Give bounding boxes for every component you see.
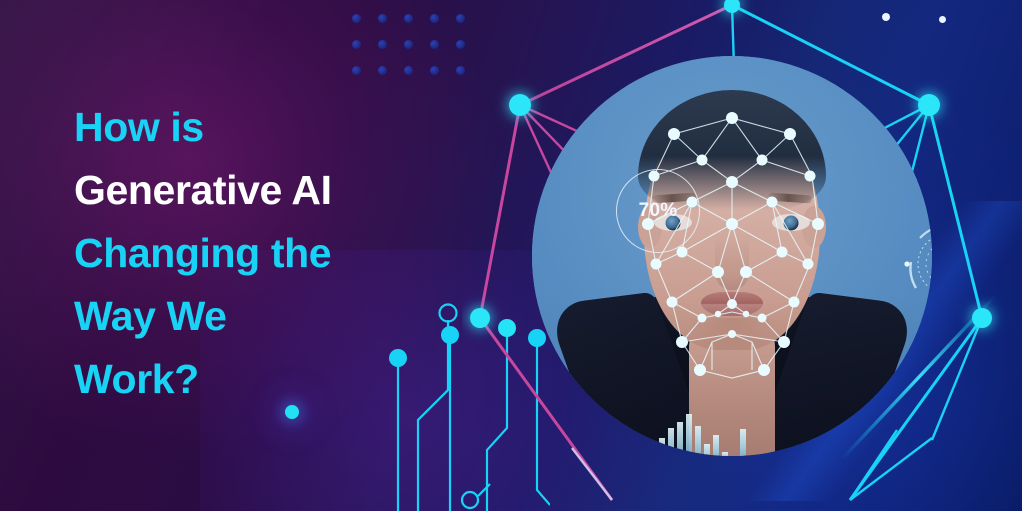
bar-chart-bar (659, 438, 665, 456)
heptagon-vertex-dot (972, 308, 992, 328)
headline-line-5: Work? (74, 348, 474, 411)
portrait-disc: 70% (532, 56, 932, 456)
ai-composition: 70% (462, 0, 1022, 511)
heptagon-vertex-dot (470, 308, 490, 328)
bar-chart-bar (650, 450, 656, 456)
heptagon-vertex-dot (509, 94, 531, 116)
headline-line-4: Way We (74, 285, 474, 348)
headline-line-3: Changing the (74, 222, 474, 285)
portrait-illustration (532, 56, 932, 456)
gauge-value-label: 70% (639, 200, 678, 222)
headline-block: How is Generative AI Changing the Way We… (74, 96, 474, 411)
portrait-lips (701, 292, 763, 316)
bar-chart-bar (686, 414, 692, 456)
bar-chart (650, 414, 748, 456)
bar-chart-bar (713, 435, 719, 456)
bar-chart-bar (704, 444, 710, 456)
glow-dot-icon (285, 405, 299, 419)
banner-root: How is Generative AI Changing the Way We… (0, 0, 1022, 511)
bar-chart-bar (722, 452, 728, 456)
headline-line-2: Generative AI (74, 159, 474, 222)
portrait-nose (715, 234, 749, 290)
heptagon-vertex-dot (724, 0, 740, 13)
bar-chart-bar (740, 429, 746, 456)
bar-chart-bar (668, 428, 674, 456)
bar-chart-bar (677, 422, 683, 456)
portrait-eye-right (772, 214, 810, 231)
percentage-gauge: 70% (616, 169, 700, 253)
bar-chart-bar (695, 426, 701, 456)
headline-line-1: How is (74, 96, 474, 159)
portrait-chin-shading (687, 318, 777, 354)
